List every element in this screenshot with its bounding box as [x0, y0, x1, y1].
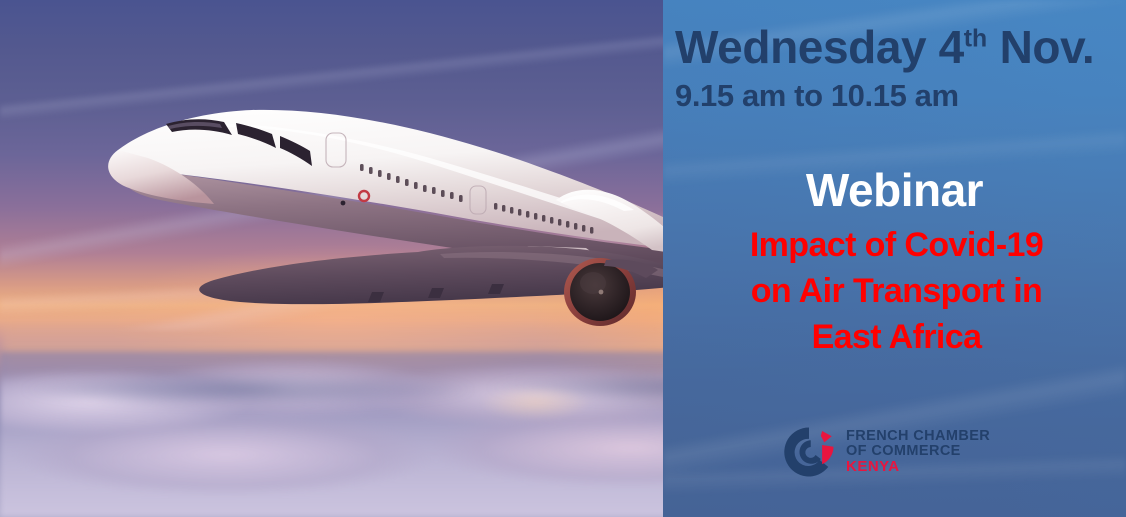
logo-line-1: FRENCH CHAMBER [846, 429, 990, 444]
french-chamber-logo: FRENCH CHAMBER OF COMMERCE KENYA [781, 424, 990, 480]
lens-flare [480, 386, 590, 420]
event-date: Wednesday 4th Nov. [675, 24, 1094, 70]
event-date-ordinal: th [964, 26, 987, 53]
event-date-month: Nov. [987, 21, 1094, 73]
event-title-line-2: on Air Transport in [673, 268, 1120, 314]
webinar-banner: Wednesday 4th Nov. 9.15 am to 10.15 am W… [0, 0, 1126, 517]
event-type-heading: Webinar [663, 167, 1126, 213]
engine-nacelle [564, 258, 658, 326]
event-date-daypart: Wednesday 4 [675, 21, 964, 73]
panel-content: Wednesday 4th Nov. 9.15 am to 10.15 am W… [663, 0, 1126, 517]
event-title: Impact of Covid-19 on Air Transport in E… [673, 222, 1120, 361]
logo-wordmark: FRENCH CHAMBER OF COMMERCE KENYA [846, 429, 990, 476]
event-time: 9.15 am to 10.15 am [675, 80, 959, 111]
logo-line-2: OF COMMERCE [846, 444, 990, 459]
event-title-line-1: Impact of Covid-19 [673, 222, 1120, 268]
event-title-line-3: East Africa [673, 314, 1120, 360]
fuselage [108, 110, 706, 274]
cci-chamber-icon [781, 424, 837, 480]
logo-line-3: KENYA [846, 459, 990, 475]
